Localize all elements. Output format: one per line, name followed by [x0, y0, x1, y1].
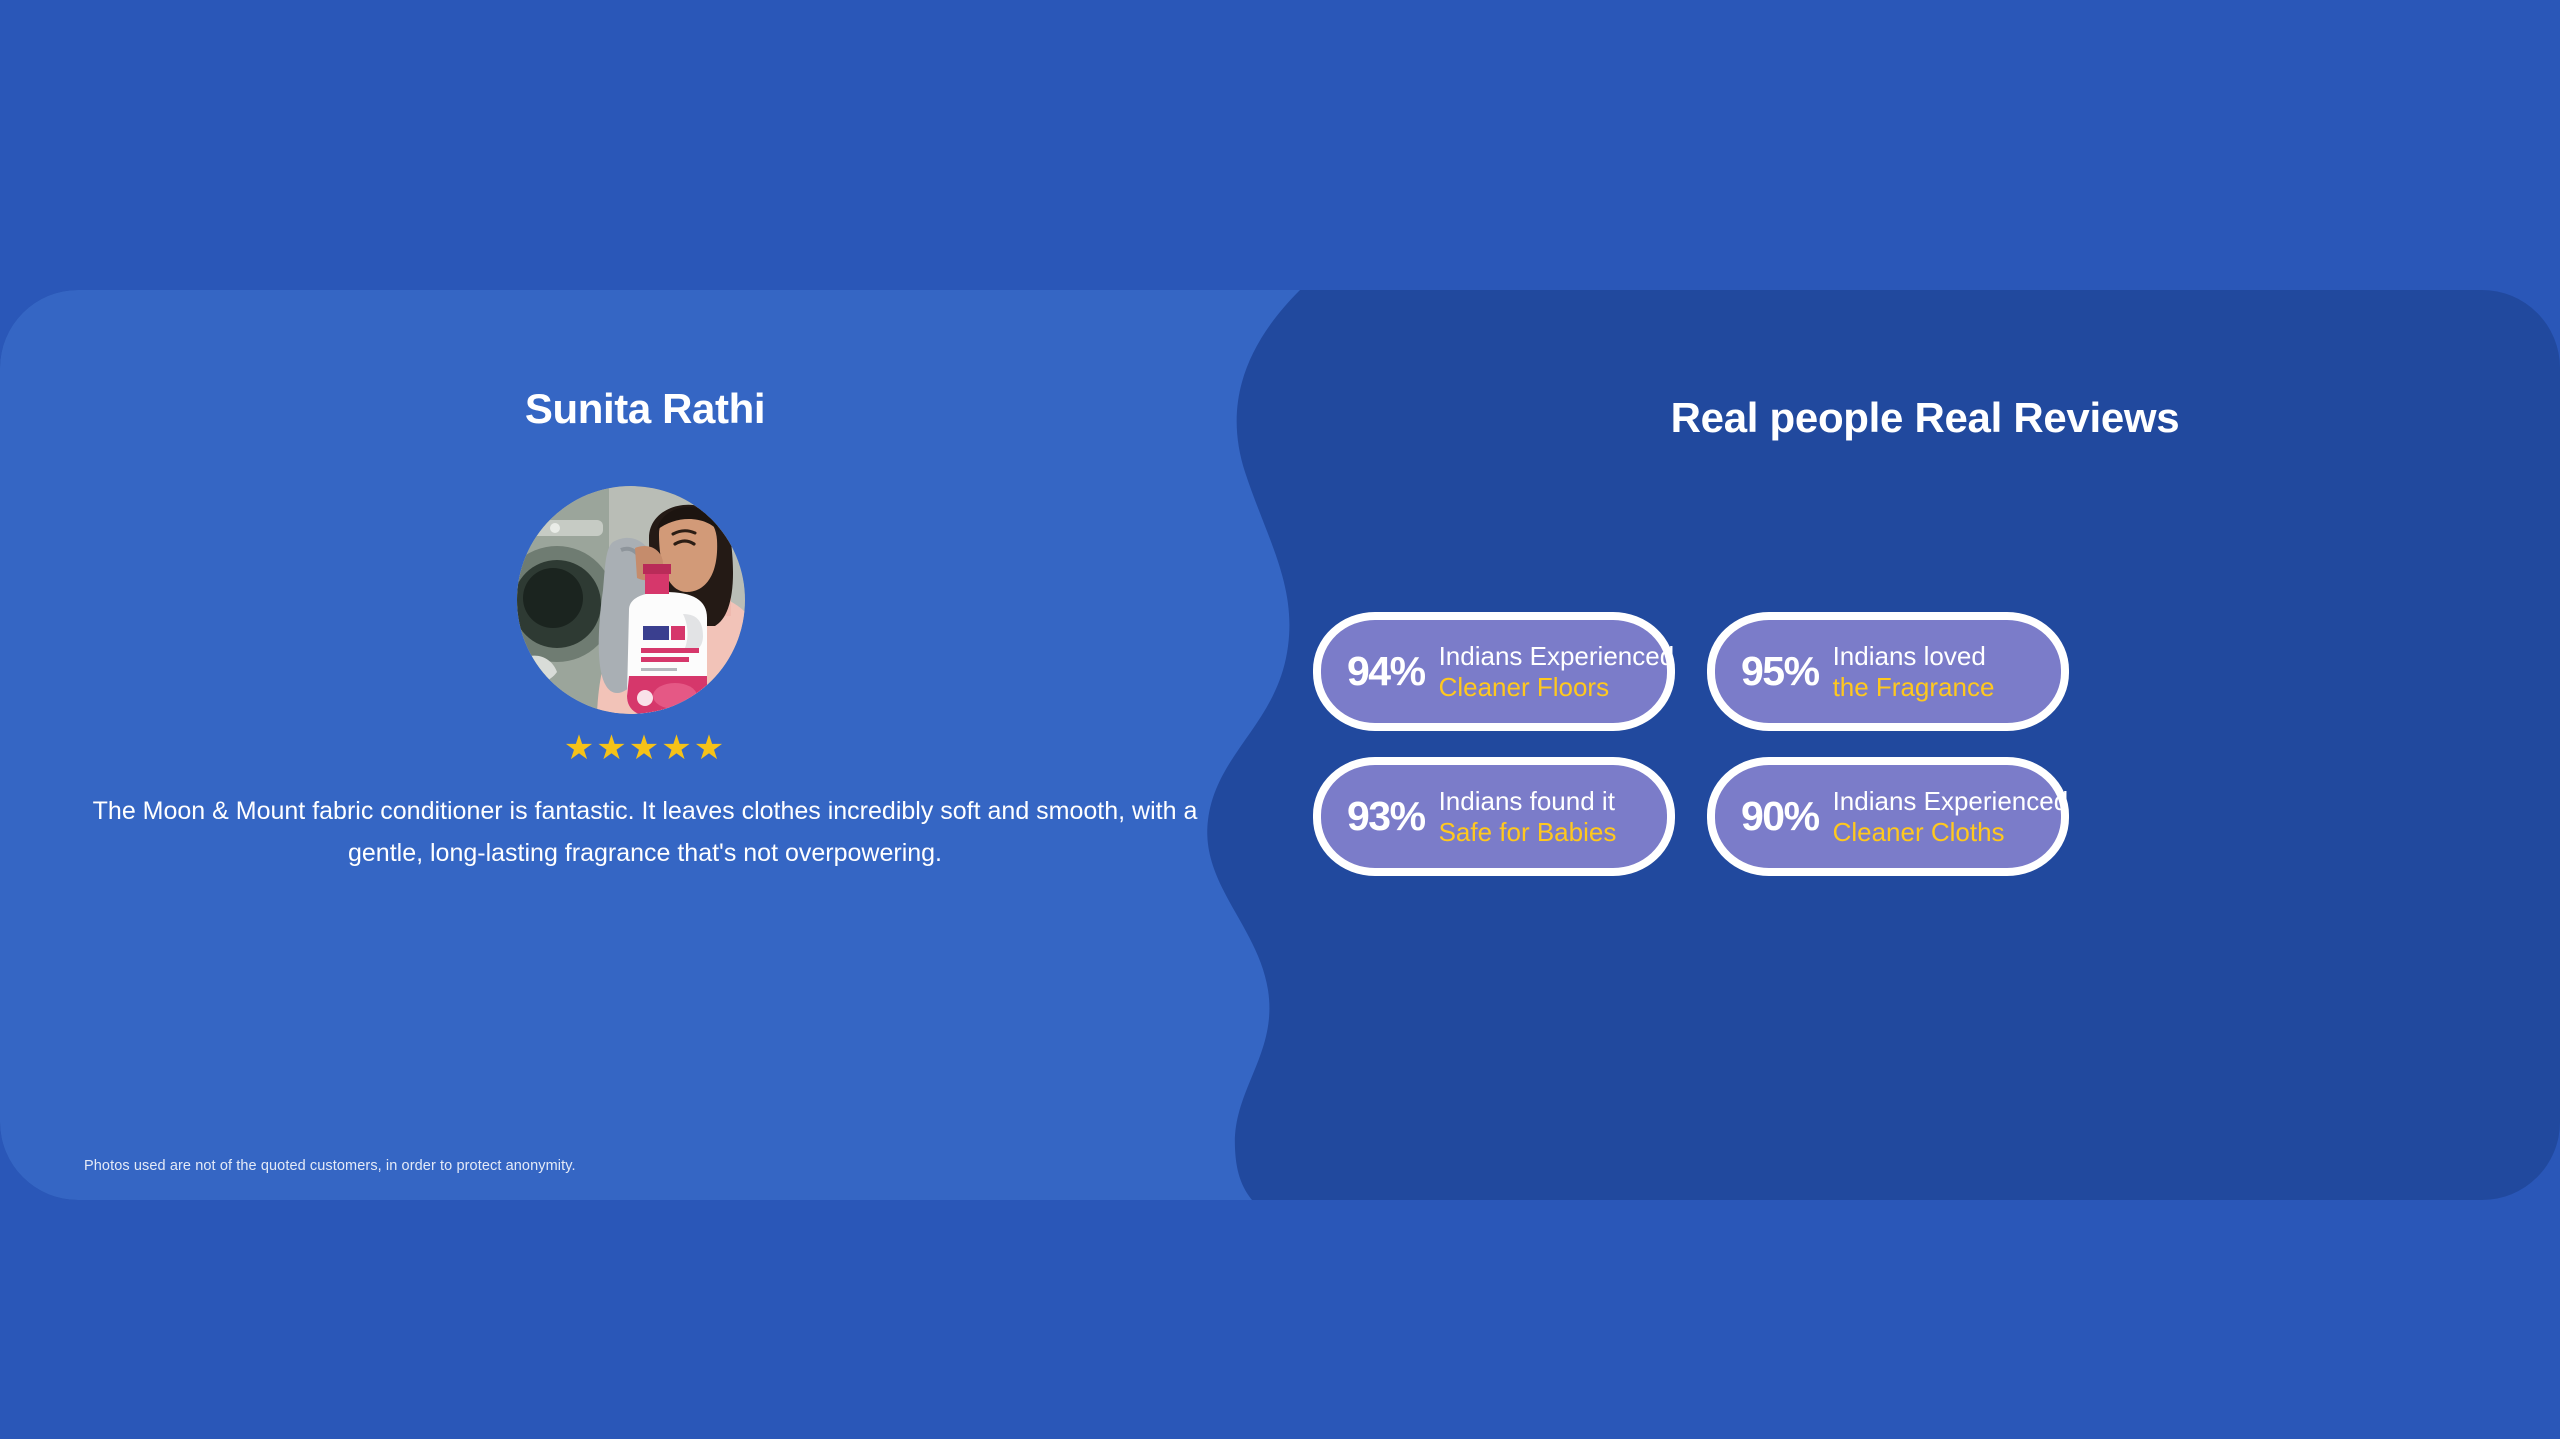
stat-label-highlight: Safe for Babies: [1439, 817, 1617, 848]
stat-label: Indians Experienced Cleaner Floors: [1439, 641, 1675, 703]
stats-column: Real people Real Reviews 94% Indians Exp…: [1290, 290, 2560, 1200]
stat-label-top: Indians found it: [1439, 786, 1617, 817]
stat-card: 90% Indians Experienced Cleaner Cloths: [1707, 757, 2069, 876]
stat-label-highlight: the Fragrance: [1833, 672, 1995, 703]
stat-percent: 95%: [1741, 648, 1819, 695]
testimonial-banner: Sunita Rathi: [0, 0, 2560, 1439]
stats-headline: Real people Real Reviews: [1505, 380, 2345, 455]
stat-label-highlight: Cleaner Cloths: [1833, 817, 2069, 848]
avatar: [517, 486, 745, 714]
photo-disclaimer: Photos used are not of the quoted custom…: [84, 1158, 576, 1174]
stat-percent: 93%: [1347, 793, 1425, 840]
reviewer-name: Sunita Rathi: [0, 385, 1290, 433]
avatar-photo-icon: [517, 486, 745, 714]
stat-card: 93% Indians found it Safe for Babies: [1313, 757, 1675, 876]
stat-label-top: Indians Experienced: [1439, 641, 1675, 672]
stat-percent: 94%: [1347, 648, 1425, 695]
stat-label-top: Indians Experienced: [1833, 786, 2069, 817]
testimonial-quote: The Moon & Mount fabric conditioner is f…: [60, 790, 1230, 874]
stats-card-grid: 94% Indians Experienced Cleaner Floors 9…: [1313, 612, 2545, 876]
stat-label-top: Indians loved: [1833, 641, 1995, 672]
stat-label: Indians found it Safe for Babies: [1439, 786, 1617, 848]
stat-card: 95% Indians loved the Fragrance: [1707, 612, 2069, 731]
star-rating-icon: ★★★★★: [0, 731, 1290, 765]
stat-label-highlight: Cleaner Floors: [1439, 672, 1675, 703]
stat-label: Indians Experienced Cleaner Cloths: [1833, 786, 2069, 848]
content-panel: Sunita Rathi: [0, 290, 2560, 1200]
stat-label: Indians loved the Fragrance: [1833, 641, 1995, 703]
testimonial-column: Sunita Rathi: [0, 290, 1290, 1200]
stat-card: 94% Indians Experienced Cleaner Floors: [1313, 612, 1675, 731]
stat-percent: 90%: [1741, 793, 1819, 840]
